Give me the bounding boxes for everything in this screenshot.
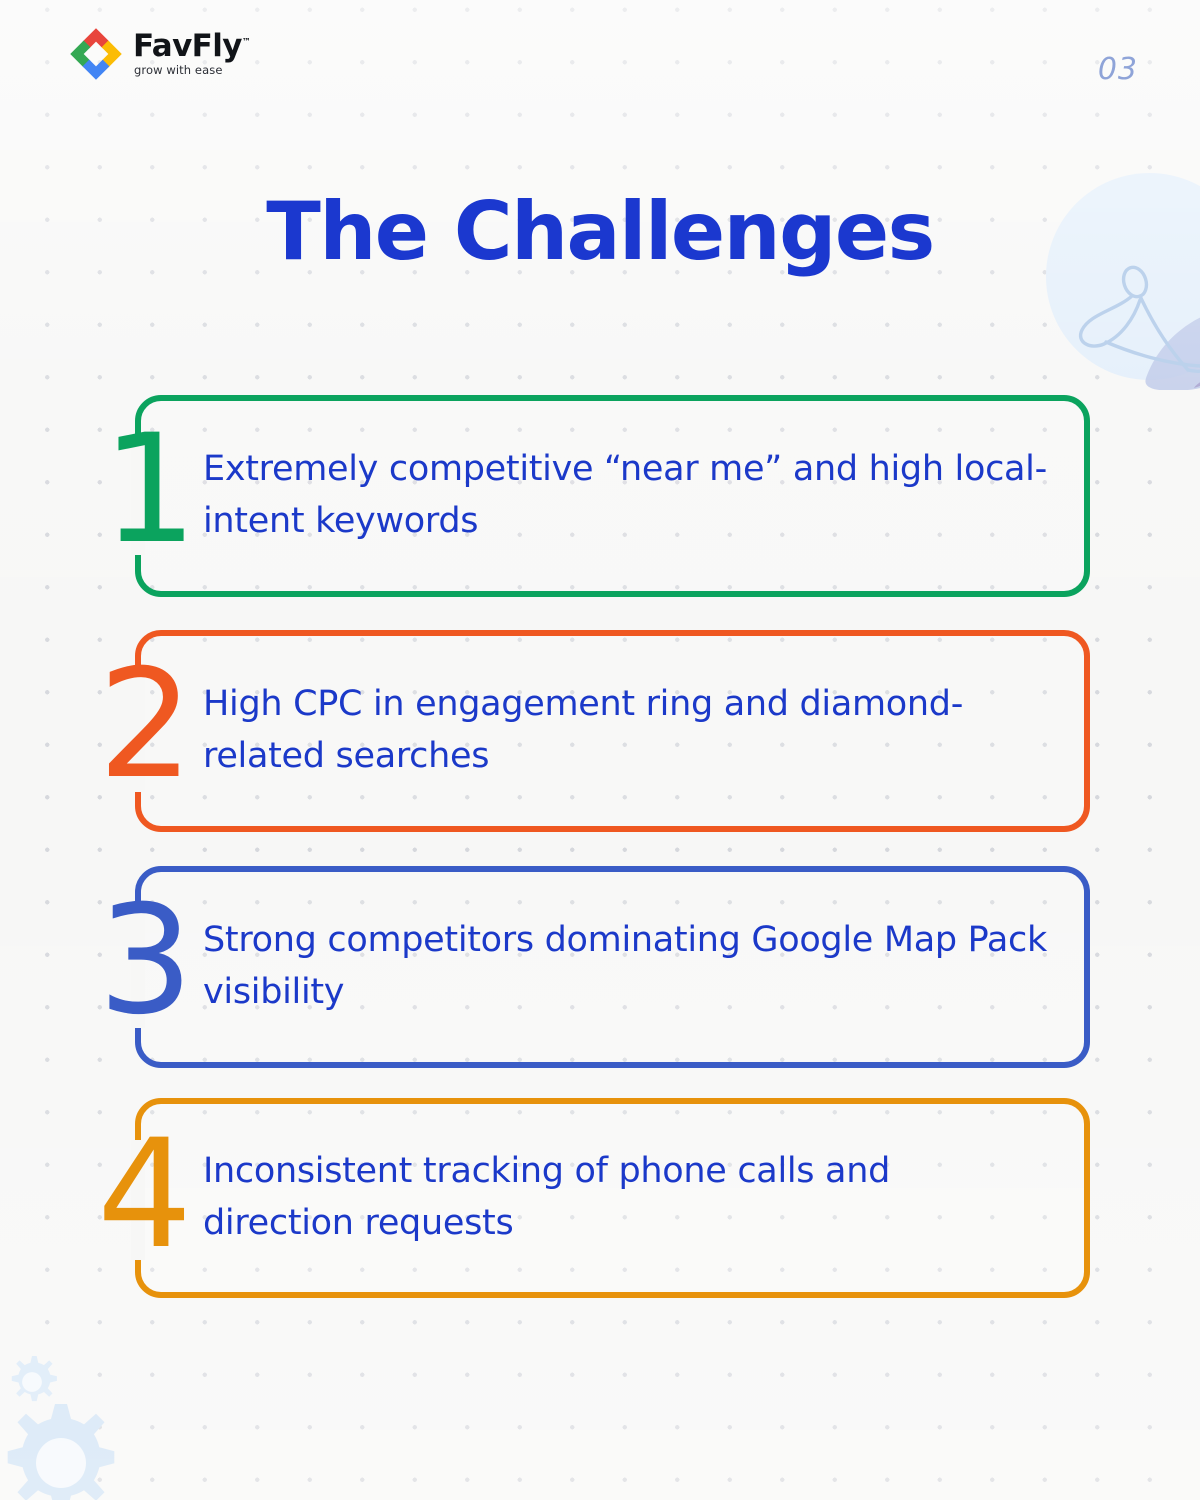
page-number: 03 [1098, 52, 1138, 87]
logo-trademark: ™ [242, 38, 250, 48]
favfly-diamond-logo-icon [68, 26, 124, 82]
card-number-2: 2 [98, 650, 191, 800]
logo-tagline: grow with ease [134, 65, 250, 77]
card-text-4: Inconsistent tracking of phone calls and… [203, 1146, 1050, 1250]
page-header: FavFly™ grow with ease 03 [0, 0, 1200, 120]
brand-logo[interactable]: FavFly™ grow with ease [68, 26, 250, 82]
card-text-1: Extremely competitive “near me” and high… [203, 444, 1050, 548]
card-number-1: 1 [102, 415, 195, 565]
logo-wordmark-text: FavFly [133, 28, 242, 64]
logo-text-block: FavFly™ grow with ease [133, 31, 250, 77]
challenge-card-1[interactable]: 1 Extremely competitive “near me” and hi… [135, 395, 1090, 597]
challenge-card-2[interactable]: 2 High CPC in engagement ring and diamon… [135, 630, 1090, 832]
card-text-3: Strong competitors dominating Google Map… [203, 915, 1050, 1019]
card-text-2: High CPC in engagement ring and diamond-… [203, 679, 1050, 783]
page-title: The Challenges [0, 185, 1200, 278]
logo-wordmark: FavFly™ [133, 31, 250, 62]
card-number-3: 3 [98, 886, 191, 1036]
challenge-card-3[interactable]: 3 Strong competitors dominating Google M… [135, 866, 1090, 1068]
card-number-4: 4 [97, 1120, 190, 1270]
challenge-card-4[interactable]: 4 Inconsistent tracking of phone calls a… [135, 1098, 1090, 1298]
